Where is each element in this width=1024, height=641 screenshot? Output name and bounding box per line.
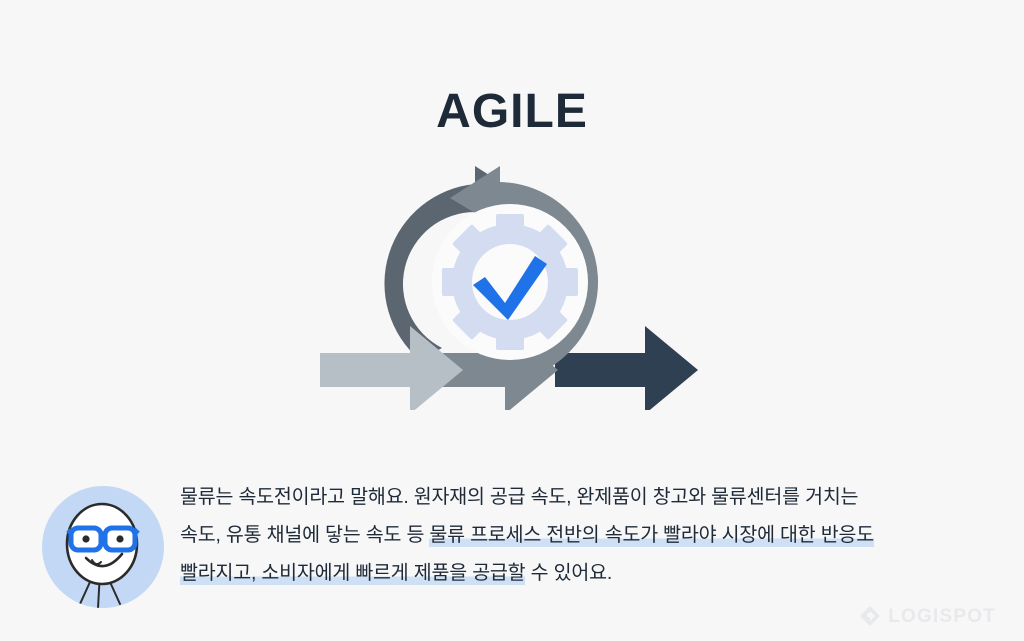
caption-line-3-plain: 수 있어요.: [525, 562, 612, 584]
caption-line-2: 속도, 유통 채널에 닿는 속도 등 물류 프로세스 전반의 속도가 빨라야 시…: [180, 516, 970, 554]
caption-line-3-highlight: 빨라지고, 소비자에게 빠르게 제품을 공급할: [180, 562, 525, 585]
arrow-left-light-head: [320, 326, 463, 410]
agile-cycle-diagram: [300, 160, 720, 410]
caption-line-2-plain: 속도, 유통 채널에 닿는 속도 등: [180, 524, 429, 546]
eye-left: [82, 535, 89, 542]
page-title: AGILE: [0, 88, 1024, 136]
eye-right: [116, 535, 123, 542]
caption-line-3: 빨라지고, 소비자에게 빠르게 제품을 공급할 수 있어요.: [180, 554, 970, 592]
avatar: [42, 486, 164, 608]
diamond-logo-icon: [859, 605, 881, 627]
gear-icon: [442, 214, 578, 350]
caption-line-1: 물류는 속도전이라고 말해요. 원자재의 공급 속도, 완제품이 창고와 물류센…: [180, 478, 970, 516]
caption-line-1-plain: 물류는 속도전이라고 말해요. 원자재의 공급 속도, 완제품이 창고와 물류센…: [180, 486, 858, 508]
logispot-wordmark: LOGISPOT: [888, 607, 996, 626]
caption-text: 물류는 속도전이라고 말해요. 원자재의 공급 속도, 완제품이 창고와 물류센…: [180, 478, 970, 592]
caption-line-2-highlight: 물류 프로세스 전반의 속도가 빨라야 시장에 대한 반응도: [429, 524, 874, 547]
logispot-watermark: LOGISPOT: [859, 605, 996, 627]
